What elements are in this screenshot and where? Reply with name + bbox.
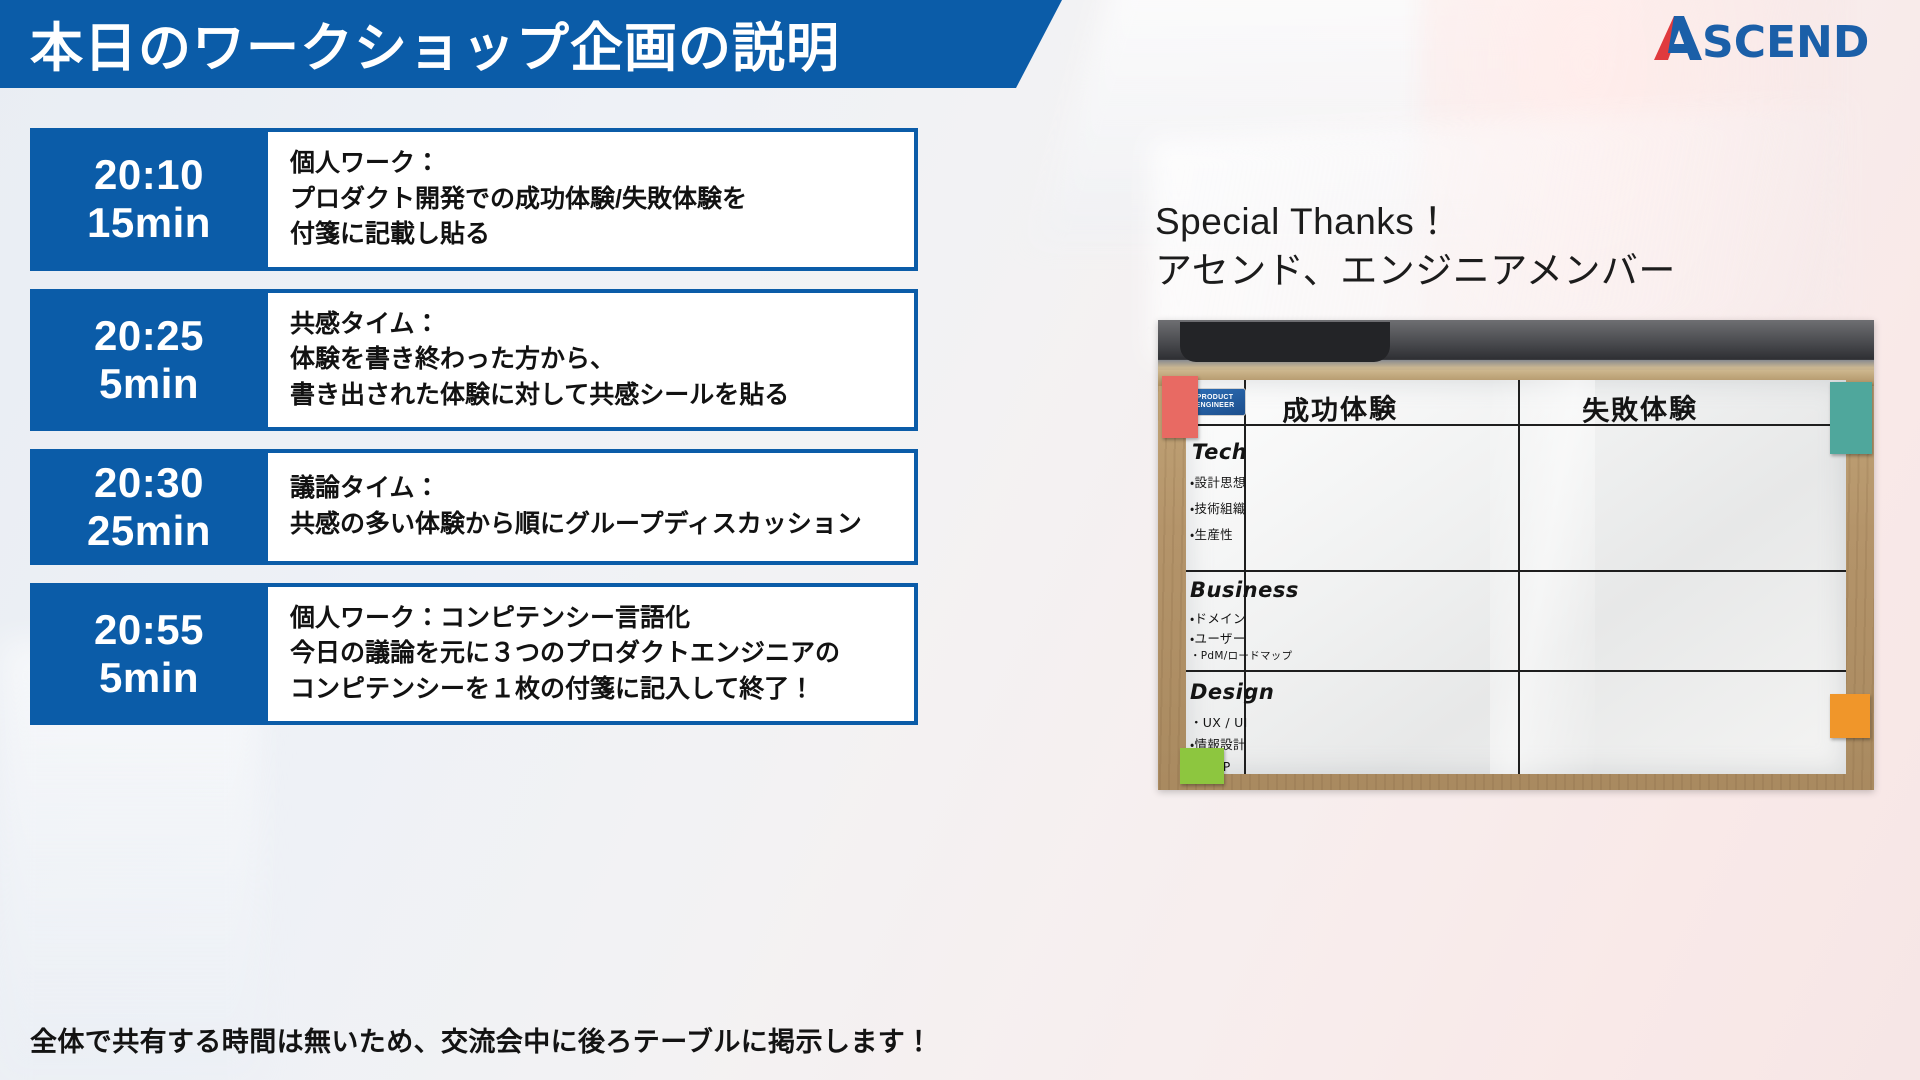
whiteboard-category-business: Business <box>1190 578 1299 602</box>
sticky-note-teal <box>1830 382 1872 454</box>
agenda-row[interactable]: 20:55 5min 個人ワーク：コンピテンシー言語化 今日の議論を元に３つのプ… <box>30 583 918 726</box>
svg-text:SCEND: SCEND <box>1702 17 1869 66</box>
sticky-note-orange <box>1830 694 1870 738</box>
whiteboard-tech-item-3: ・生産性 <box>1190 524 1233 543</box>
agenda-duration: 25min <box>87 507 211 555</box>
whiteboard-row-line-1 <box>1186 570 1846 572</box>
special-thanks-block: Special Thanks！ アセンド、エンジニアメンバー <box>1155 198 1676 296</box>
whiteboard-column-failure: 失敗体験 <box>1582 386 1699 428</box>
agenda-time-block: 20:25 5min <box>30 293 268 428</box>
whiteboard-business-item-2: ・ユーザー <box>1190 628 1246 647</box>
agenda-duration: 5min <box>99 360 199 408</box>
whiteboard-surface: 成功体験 失敗体験 Tech ・設計思想 ・技術組織 ・生産性 Business… <box>1186 380 1846 774</box>
agenda-row[interactable]: 20:25 5min 共感タイム： 体験を書き終わった方から、 書き出された体験… <box>30 289 918 432</box>
special-thanks-subtext: アセンド、エンジニアメンバー <box>1155 247 1676 296</box>
agenda-body: 個人ワーク： プロダクト開発での成功体験/失敗体験を 付箋に記載し貼る <box>268 132 914 267</box>
ascend-wordmark-icon: SCEND <box>1644 10 1884 66</box>
whiteboard-photo: 成功体験 失敗体験 Tech ・設計思想 ・技術組織 ・生産性 Business… <box>1158 320 1874 790</box>
whiteboard-column-divider <box>1518 380 1520 774</box>
whiteboard-business-item-3: ・PdM/ロードマップ <box>1190 648 1292 663</box>
agenda-description: 個人ワーク： プロダクト開発での成功体験/失敗体験を 付箋に記載し貼る <box>290 146 747 253</box>
agenda-start-time: 20:10 <box>94 151 204 199</box>
agenda-time-block: 20:30 25min <box>30 453 268 561</box>
whiteboard-column-success: 成功体験 <box>1282 386 1399 428</box>
agenda-description: 議論タイム： 共感の多い体験から順にグループディスカッション <box>290 471 862 542</box>
photo-background-desk <box>1158 320 1874 386</box>
agenda-time-block: 20:55 5min <box>30 587 268 722</box>
sticky-note-green <box>1180 748 1224 784</box>
whiteboard-tech-item-2: ・技術組織 <box>1190 498 1246 517</box>
agenda-body: 共感タイム： 体験を書き終わった方から、 書き出された体験に対して共感シールを貼… <box>268 293 914 428</box>
header-banner: 本日のワークショップ企画の説明 <box>0 0 1062 88</box>
agenda-time-block: 20:10 15min <box>30 132 268 267</box>
agenda-body: 個人ワーク：コンピテンシー言語化 今日の議論を元に３つのプロダクトエンジニアの … <box>268 587 914 722</box>
agenda-footnote: 全体で共有する時間は無いため、交流会中に後ろテーブルに掲示します！ <box>30 1020 933 1059</box>
whiteboard-tech-item-1: ・設計思想 <box>1190 472 1246 491</box>
whiteboard-row-line-2 <box>1186 670 1846 672</box>
whiteboard-category-design: Design <box>1190 680 1274 704</box>
agenda-start-time: 20:55 <box>94 606 204 654</box>
agenda-start-time: 20:30 <box>94 459 204 507</box>
whiteboard-glare <box>1490 380 1596 774</box>
whiteboard-design-item-1: ・UX / UI <box>1190 712 1248 731</box>
whiteboard-business-item-1: ・ドメイン <box>1190 608 1246 627</box>
agenda-list: 20:10 15min 個人ワーク： プロダクト開発での成功体験/失敗体験を 付… <box>30 128 918 743</box>
agenda-duration: 15min <box>87 199 211 247</box>
page-title: 本日のワークショップ企画の説明 <box>30 6 840 82</box>
agenda-row[interactable]: 20:10 15min 個人ワーク： プロダクト開発での成功体験/失敗体験を 付… <box>30 128 918 271</box>
sticky-note-red <box>1162 376 1198 438</box>
agenda-row[interactable]: 20:30 25min 議論タイム： 共感の多い体験から順にグループディスカッシ… <box>30 449 918 565</box>
agenda-description: 個人ワーク：コンピテンシー言語化 今日の議論を元に３つのプロダクトエンジニアの … <box>290 601 840 708</box>
agenda-start-time: 20:25 <box>94 312 204 360</box>
whiteboard-category-tech: Tech <box>1192 440 1247 464</box>
agenda-description: 共感タイム： 体験を書き終わった方から、 書き出された体験に対して共感シールを貼… <box>290 307 789 414</box>
ascend-logo: SCEND <box>1644 10 1884 66</box>
agenda-duration: 5min <box>99 654 199 702</box>
agenda-body: 議論タイム： 共感の多い体験から順にグループディスカッション <box>268 453 914 561</box>
special-thanks-heading: Special Thanks！ <box>1155 198 1676 247</box>
